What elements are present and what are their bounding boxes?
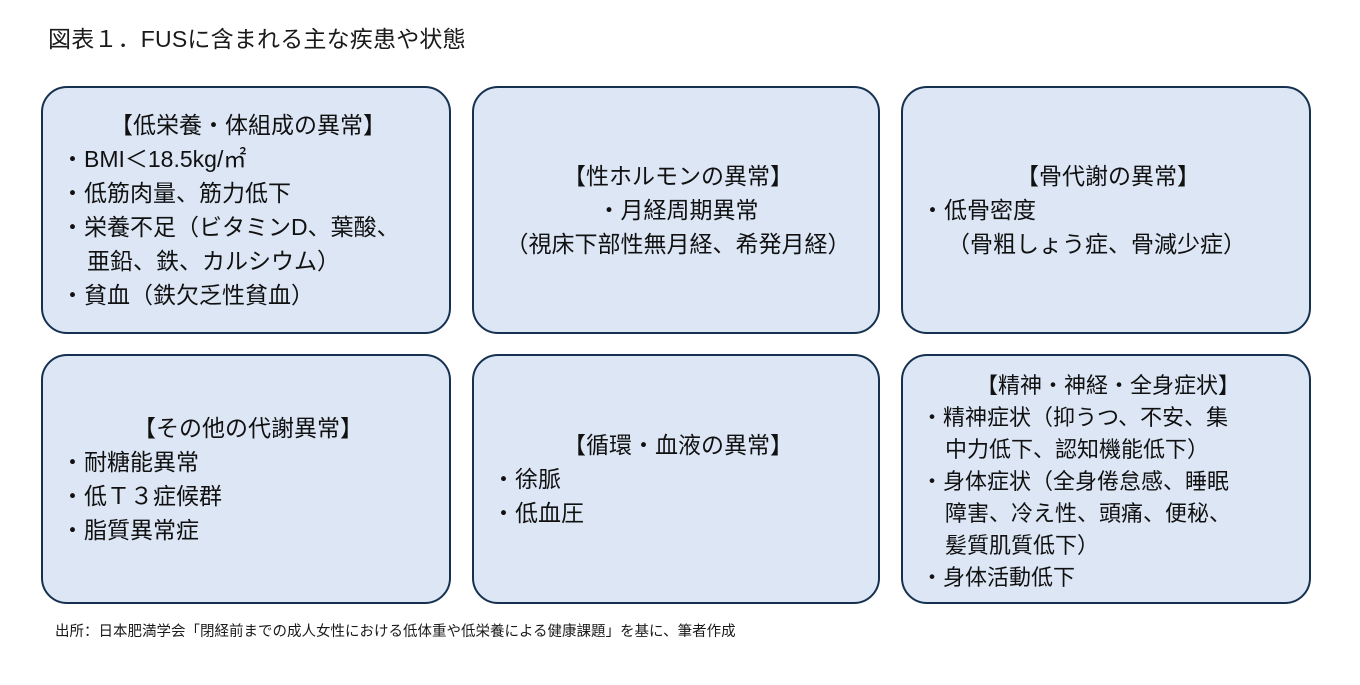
source-note: 出所：日本肥満学会「閉経前までの成人女性における低体重や低栄養による健康課題」を… [55, 621, 736, 643]
card-line: ・栄養不足（ビタミンD、葉酸、 [61, 210, 435, 244]
card-line: ・低血圧 [492, 496, 864, 530]
figure-container: 図表１．FUSに含まれる主な疾患や状態 【低栄養・体組成の異常】 ・BMI＜18… [0, 0, 1360, 685]
card-heading: 【低栄養・体組成の異常】 [61, 108, 435, 142]
card-line: ・貧血（鉄欠乏性貧血） [61, 278, 435, 312]
card-line: ・徐脈 [492, 462, 864, 496]
card-sex-hormone-abnormality: 【性ホルモンの異常】 ・月経周期異常 （視床下部性無月経、希発月経） [472, 86, 880, 334]
card-line: 髪質肌質低下） [921, 530, 1295, 562]
card-line-list: ・精神症状（抑うつ、不安、集 中力低下、認知機能低下） ・身体症状（全身倦怠感、… [921, 402, 1295, 594]
card-line: ・脂質異常症 [61, 513, 435, 547]
card-line-list: ・耐糖能異常 ・低Ｔ３症候群 ・脂質異常症 [61, 445, 435, 547]
card-undernutrition-body-composition: 【低栄養・体組成の異常】 ・BMI＜18.5kg/㎡ ・低筋肉量、筋力低下 ・栄… [41, 86, 451, 334]
card-circulation-blood-abnormality: 【循環・血液の異常】 ・徐脈 ・低血圧 [472, 354, 880, 604]
card-bone-metabolism-abnormality: 【骨代謝の異常】 ・低骨密度 （骨粗しょう症、骨減少症） [901, 86, 1311, 334]
card-line: ・低筋肉量、筋力低下 [61, 176, 435, 210]
card-line-list: ・BMI＜18.5kg/㎡ ・低筋肉量、筋力低下 ・栄養不足（ビタミンD、葉酸、… [61, 142, 435, 312]
card-line: ・身体活動低下 [921, 562, 1295, 594]
figure-title: 図表１．FUSに含まれる主な疾患や状態 [48, 24, 466, 54]
card-line: ・身体症状（全身倦怠感、睡眠 [921, 466, 1295, 498]
card-line: ・精神症状（抑うつ、不安、集 [921, 402, 1295, 434]
card-heading: 【骨代謝の異常】 [921, 159, 1295, 193]
card-line: （骨粗しょう症、骨減少症） [921, 227, 1295, 261]
card-heading: 【性ホルモンの異常】 [492, 159, 864, 193]
card-psychiatric-neuro-systemic-symptoms: 【精神・神経・全身症状】 ・精神症状（抑うつ、不安、集 中力低下、認知機能低下）… [901, 354, 1311, 604]
card-line-list: ・低骨密度 （骨粗しょう症、骨減少症） [921, 193, 1295, 261]
card-line: ・低Ｔ３症候群 [61, 479, 435, 513]
card-line: ・耐糖能異常 [61, 445, 435, 479]
card-grid: 【低栄養・体組成の異常】 ・BMI＜18.5kg/㎡ ・低筋肉量、筋力低下 ・栄… [41, 86, 1311, 604]
card-heading: 【その他の代謝異常】 [61, 411, 435, 445]
card-heading: 【循環・血液の異常】 [492, 428, 864, 462]
card-line-list: ・月経周期異常 （視床下部性無月経、希発月経） [492, 193, 864, 261]
card-other-metabolic-abnormality: 【その他の代謝異常】 ・耐糖能異常 ・低Ｔ３症候群 ・脂質異常症 [41, 354, 451, 604]
card-line: 亜鉛、鉄、カルシウム） [61, 244, 435, 278]
card-line-list: ・徐脈 ・低血圧 [492, 462, 864, 530]
card-line: 中力低下、認知機能低下） [921, 434, 1295, 466]
card-line: （視床下部性無月経、希発月経） [492, 227, 864, 261]
card-line: ・月経周期異常 [492, 193, 864, 227]
card-line: ・BMI＜18.5kg/㎡ [61, 142, 435, 176]
card-line: 障害、冷え性、頭痛、便秘、 [921, 498, 1295, 530]
card-heading: 【精神・神経・全身症状】 [921, 370, 1295, 402]
card-line: ・低骨密度 [921, 193, 1295, 227]
